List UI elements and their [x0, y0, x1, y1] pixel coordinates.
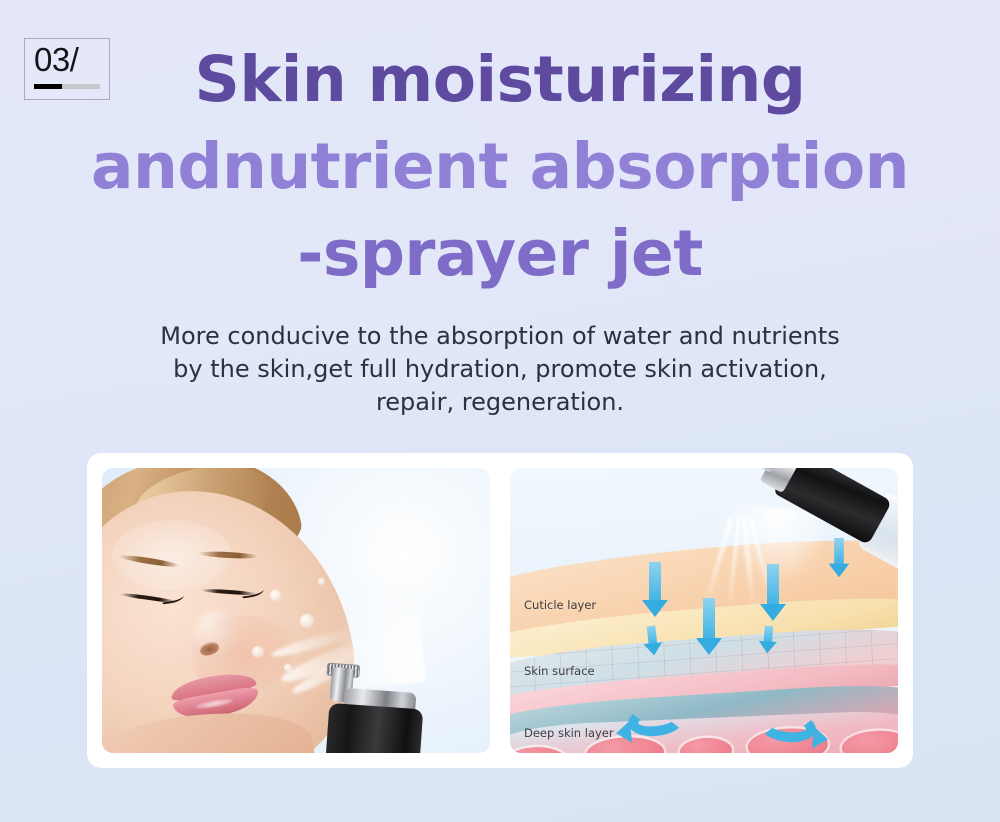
label-skin-surface: Skin surface: [524, 664, 595, 678]
arrow-head: [642, 600, 668, 617]
diffusion-arrow-curved-icon: [759, 709, 818, 745]
arrow-head: [760, 604, 786, 621]
diffusion-arrow-curved-icon: [627, 703, 686, 739]
image-gallery-card: Cuticle layer Skin surface Deep skin lay…: [87, 453, 913, 768]
arrow-head: [643, 642, 663, 656]
sprayer-handle-body: [323, 703, 423, 753]
arrow-head: [758, 641, 777, 654]
label-deep-skin-layer: Deep skin layer: [524, 726, 614, 740]
mist-droplet: [284, 664, 292, 672]
mist-droplet: [252, 646, 264, 658]
label-cuticle-layer: Cuticle layer: [524, 598, 596, 612]
product-feature-slide: 03/ Skin moisturizing andnutrient absorp…: [0, 0, 1000, 822]
page-title-line-3: -sprayer jet: [0, 210, 1000, 297]
mist-droplet: [300, 614, 314, 628]
skin-diagram-scene: Cuticle layer Skin surface Deep skin lay…: [510, 468, 898, 753]
page-subtitle-line-1: More conducive to the absorption of wate…: [0, 320, 1000, 353]
page-subtitle-line-2: by the skin,get full hydration, promote …: [0, 353, 1000, 386]
mist-droplet: [318, 578, 325, 585]
arrow-shaft: [767, 564, 779, 606]
arrow-shaft: [649, 562, 661, 602]
page-subtitle-line-3: repair, regeneration.: [0, 386, 1000, 419]
page-title: Skin moisturizing andnutrient absorption…: [0, 36, 1000, 297]
page-title-line-2: andnutrient absorption: [0, 123, 1000, 210]
arrow-bend: [627, 703, 686, 739]
arrow-head: [615, 721, 632, 744]
skin-cell: [842, 729, 898, 753]
arrow-head: [696, 638, 722, 655]
page-subtitle: More conducive to the absorption of wate…: [0, 320, 1000, 419]
skin-cell: [680, 737, 733, 753]
skin-layer-diagram[interactable]: Cuticle layer Skin surface Deep skin lay…: [510, 468, 898, 753]
face-photo-scene: [102, 468, 490, 753]
skin-cell: [510, 746, 569, 753]
arrow-bend: [759, 709, 818, 745]
arrow-shaft: [703, 598, 715, 640]
face-mist-photo[interactable]: [102, 468, 490, 753]
sprayer-device: [294, 661, 452, 753]
page-title-line-1: Skin moisturizing: [0, 36, 1000, 123]
mist-droplet: [270, 590, 281, 601]
arrow-head: [812, 727, 829, 750]
